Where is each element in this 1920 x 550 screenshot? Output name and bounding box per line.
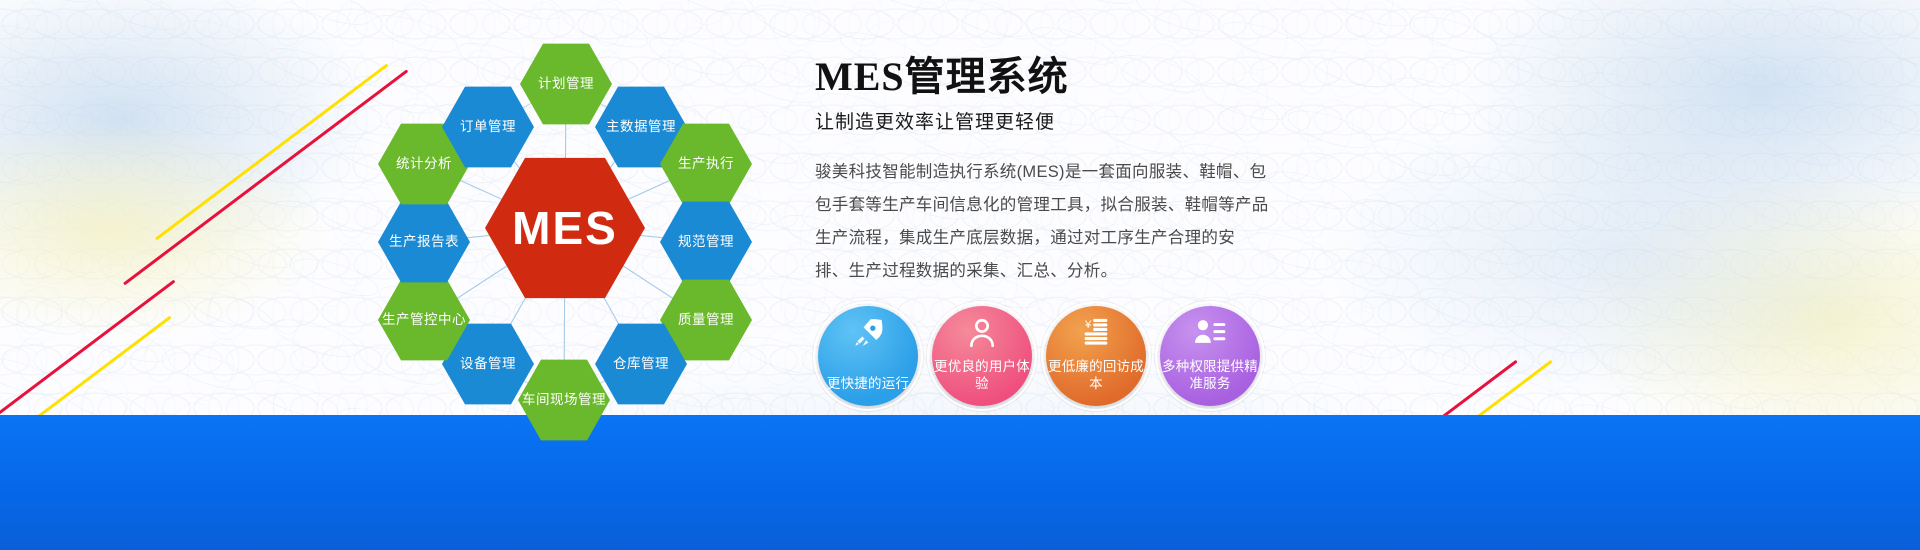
feature-circle-label: 更低廉的回访成本 <box>1046 359 1146 406</box>
feature-circle-1[interactable]: 更快捷的运行 <box>818 306 918 406</box>
hex-node-3[interactable]: 生产执行 <box>660 122 752 206</box>
svg-text:¥: ¥ <box>1084 319 1092 331</box>
user-icon <box>932 316 1032 355</box>
bottom-blue-band <box>0 415 1920 550</box>
hex-node-9[interactable]: 生产管控中心 <box>378 278 470 362</box>
hex-node-label: 生产报告表 <box>378 200 470 284</box>
feature-circle-2[interactable]: 更优良的用户体验 <box>932 306 1032 406</box>
feature-circle-3[interactable]: ¥更低廉的回访成本 <box>1046 306 1146 406</box>
mes-hexagon-diagram: 计划管理主数据管理生产执行规范管理质量管理仓库管理车间现场管理设备管理生产管控中… <box>330 10 800 430</box>
hex-node-center[interactable]: MES <box>485 155 645 301</box>
banner-stage: 计划管理主数据管理生产执行规范管理质量管理仓库管理车间现场管理设备管理生产管控中… <box>0 0 1920 550</box>
hex-node-label: 生产执行 <box>660 122 752 206</box>
hex-node-label: 生产管控中心 <box>378 278 470 362</box>
page-description: 骏美科技智能制造执行系统(MES)是一套面向服装、鞋帽、包包手套等生产车间信息化… <box>815 156 1270 288</box>
banner-text-block: MES管理系统 让制造更效率让管理更轻便 骏美科技智能制造执行系统(MES)是一… <box>815 55 1315 288</box>
rocket-icon <box>818 316 918 355</box>
hex-center-label: MES <box>485 155 645 301</box>
feature-circle-label: 更快捷的运行 <box>827 376 909 406</box>
page-title: MES管理系统 <box>815 55 1315 99</box>
user-list-icon <box>1160 316 1260 355</box>
page-subtitle: 让制造更效率让管理更轻便 <box>815 107 1315 134</box>
feature-circle-list: 更快捷的运行更优良的用户体验¥更低廉的回访成本多种权限提供精准服务 <box>818 306 1260 406</box>
hex-node-label: 规范管理 <box>660 200 752 284</box>
feature-circle-label: 多种权限提供精准服务 <box>1160 359 1260 406</box>
hex-node-10[interactable]: 生产报告表 <box>378 200 470 284</box>
feature-circle-label: 更优良的用户体验 <box>932 359 1032 406</box>
hex-node-4[interactable]: 规范管理 <box>660 200 752 284</box>
coins-icon: ¥ <box>1046 316 1146 355</box>
feature-circle-4[interactable]: 多种权限提供精准服务 <box>1160 306 1260 406</box>
